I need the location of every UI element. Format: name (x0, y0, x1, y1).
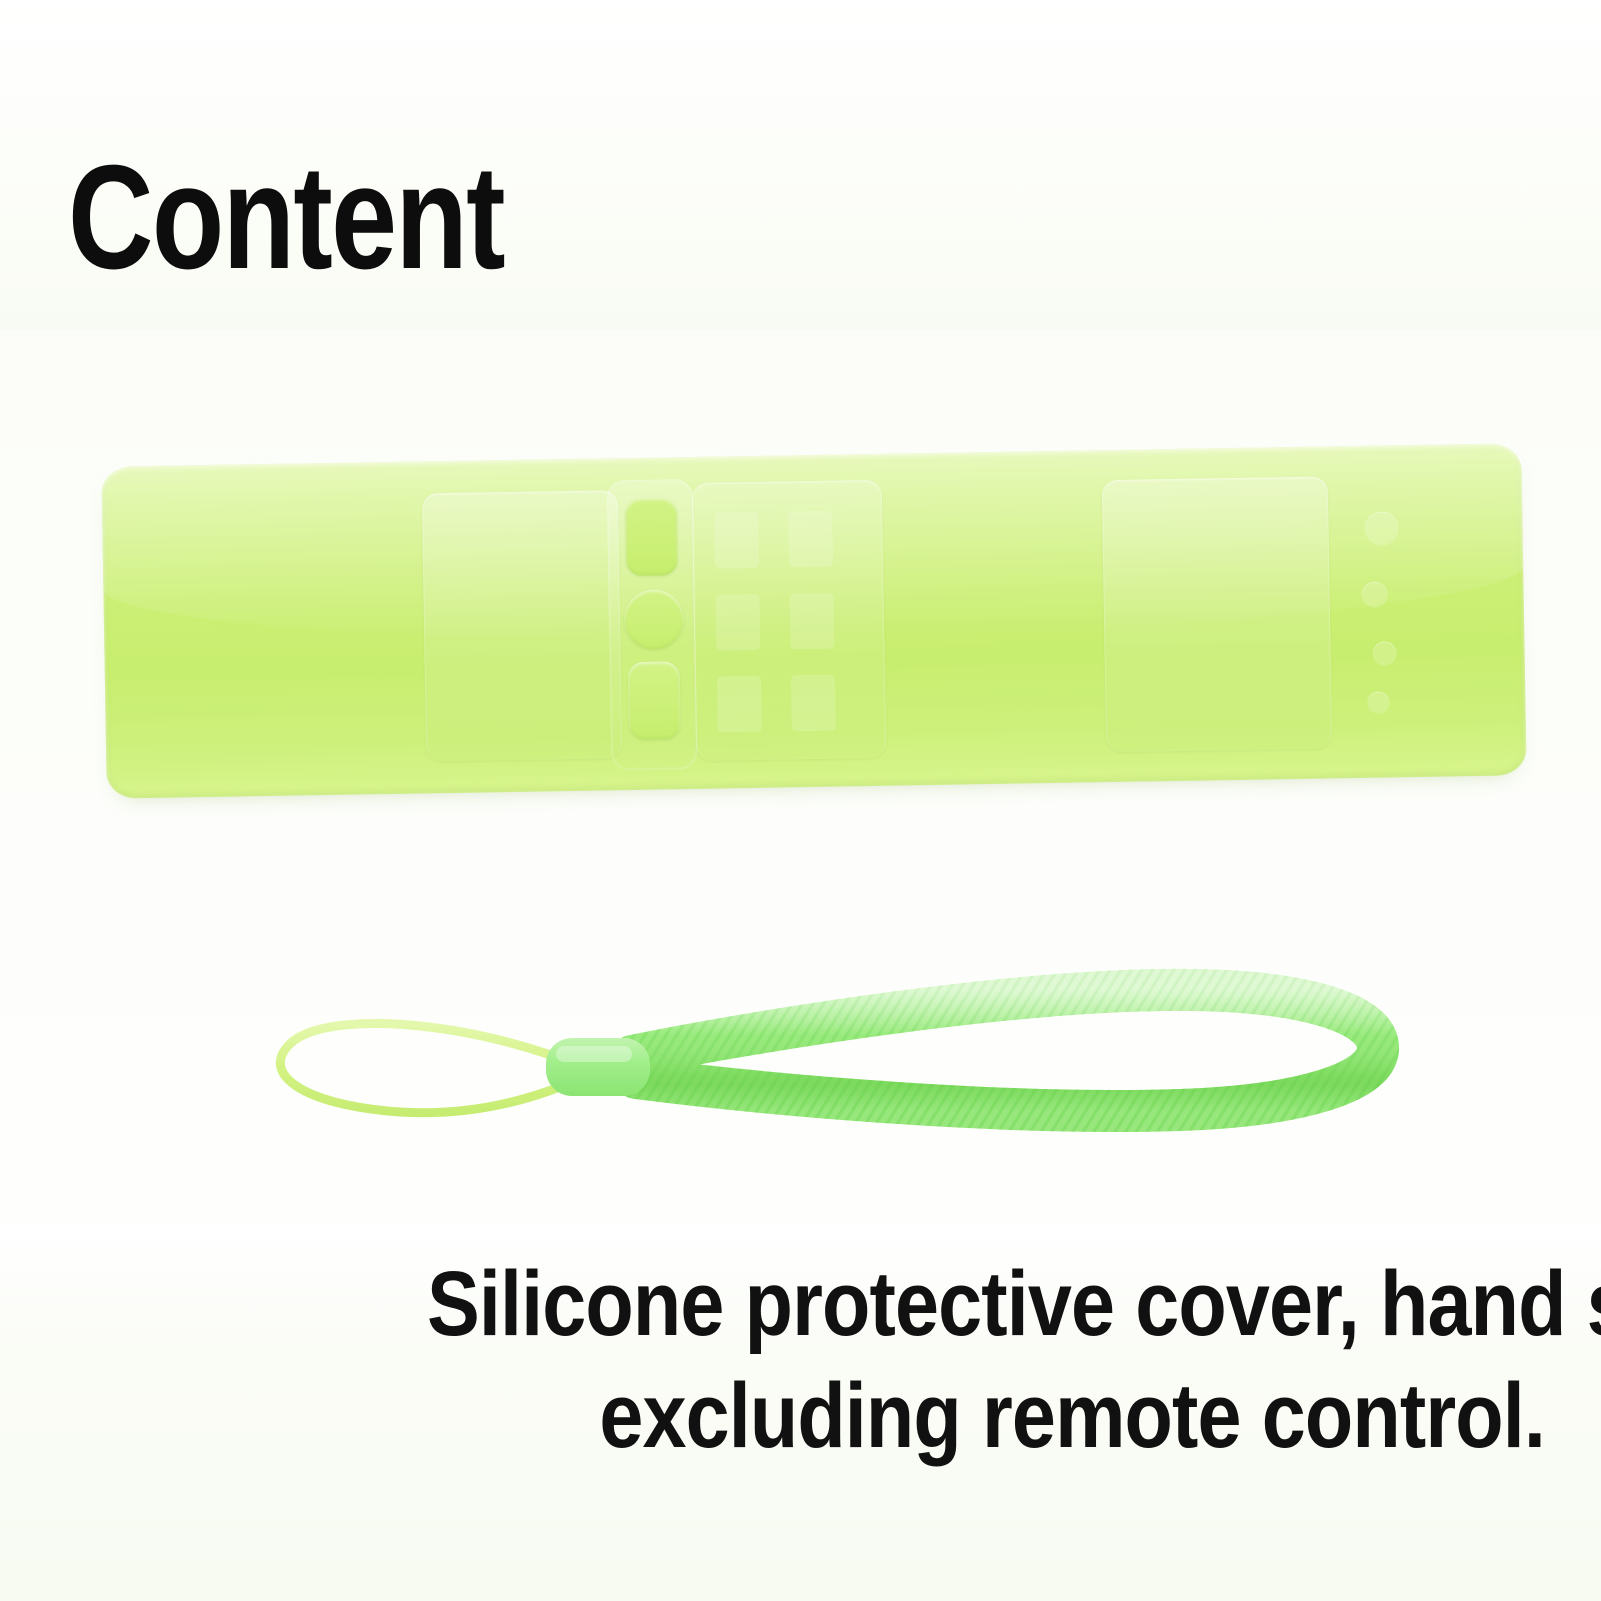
caption: Silicone protective cover, hand strap, e… (427, 1248, 1545, 1472)
key-hint (788, 511, 833, 568)
hand-strap (0, 960, 1601, 1160)
strap-cord (632, 990, 1378, 1111)
strap-ferrule (546, 1038, 650, 1096)
cover-left-panel (422, 490, 622, 761)
key-hint (716, 594, 761, 651)
key-hint (791, 675, 836, 732)
up-button (625, 497, 678, 576)
caption-line-1: Silicone protective cover, hand strap, (427, 1248, 1545, 1360)
cover-stage (0, 400, 1601, 870)
strap-loop (280, 1023, 585, 1112)
key-hint (714, 512, 759, 569)
silicone-remote-cover (101, 443, 1526, 798)
key-hint (717, 676, 762, 733)
page-title: Content (68, 143, 504, 293)
caption-line-2: excluding remote control. (427, 1360, 1545, 1472)
down-button (628, 661, 681, 740)
key-hint (790, 593, 835, 650)
cover-right-panel (1102, 476, 1332, 752)
hand-strap-illustration (0, 960, 1601, 1160)
cover-center-panel (692, 480, 887, 761)
product-image-page: Content (0, 0, 1601, 1601)
